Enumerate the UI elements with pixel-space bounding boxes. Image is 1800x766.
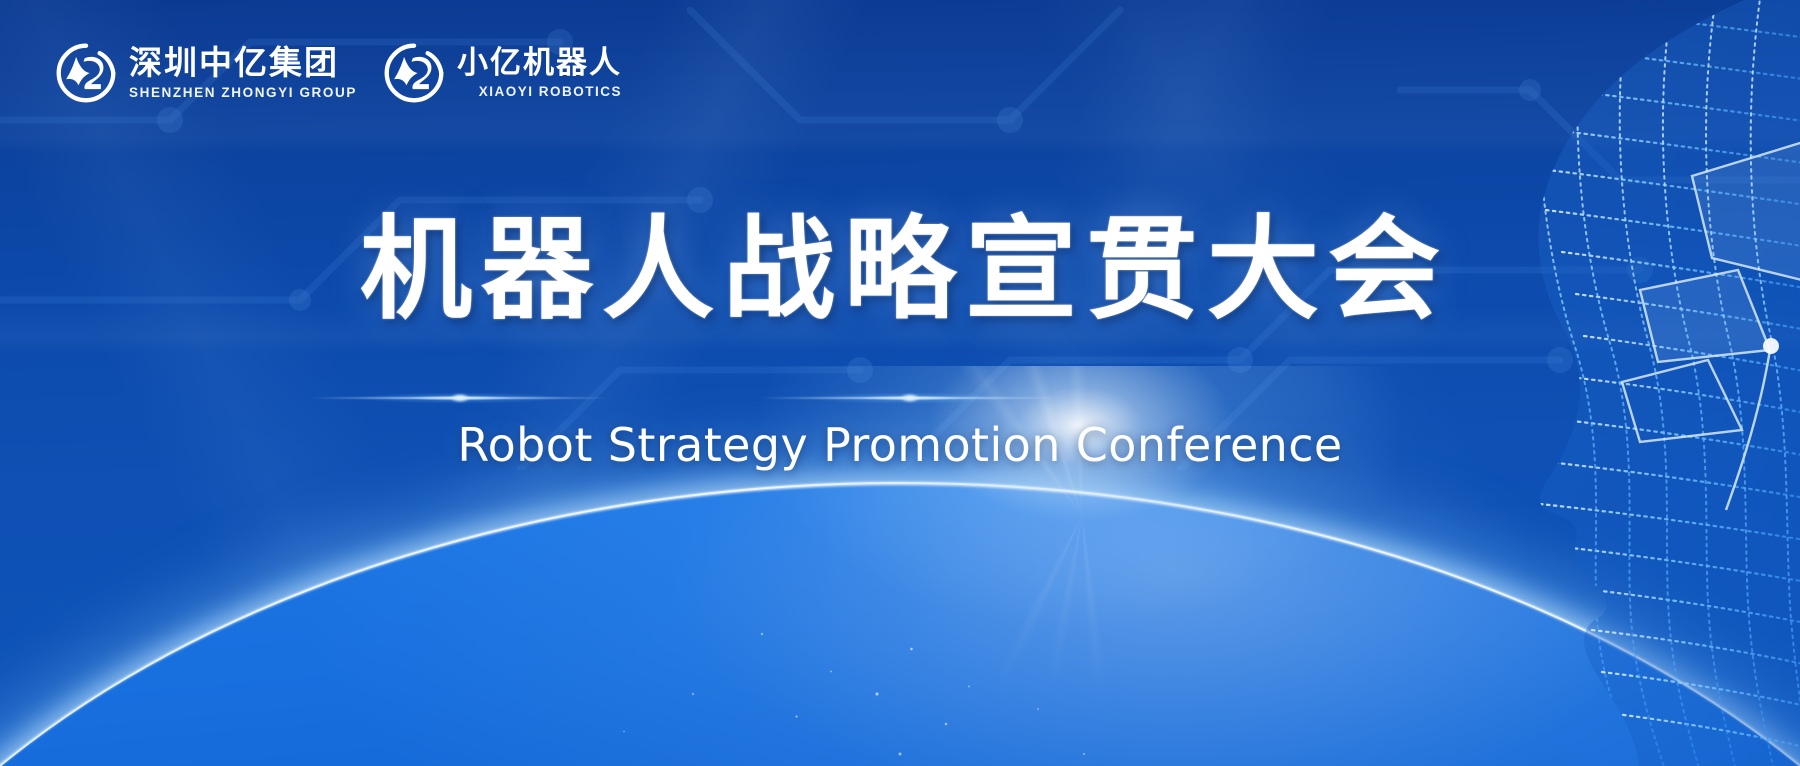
xiaoyi-emblem-icon [383, 42, 445, 104]
zhongyi-emblem-icon [55, 42, 117, 104]
logo-row: 深圳中亿集团 SHENZHEN ZHONGYI GROUP 小亿机器人 XIAO… [55, 42, 622, 104]
logo-xiaoyi[interactable]: 小亿机器人 XIAOYI ROBOTICS [383, 42, 622, 104]
background-gradient [0, 0, 1800, 766]
logo-xiaoyi-text: 小亿机器人 XIAOYI ROBOTICS [457, 47, 622, 99]
logo-zhongyi-name-en: SHENZHEN ZHONGYI GROUP [129, 86, 357, 100]
page-subtitle: Robot Strategy Promotion Conference [0, 418, 1800, 472]
logo-zhongyi-text: 深圳中亿集团 SHENZHEN ZHONGYI GROUP [129, 46, 357, 100]
page-title: 机器人战略宣贯大会 [0, 206, 1800, 335]
logo-xiaoyi-name-en: XIAOYI ROBOTICS [457, 85, 622, 99]
conference-banner: 深圳中亿集团 SHENZHEN ZHONGYI GROUP 小亿机器人 XIAO… [0, 0, 1800, 766]
logo-zhongyi[interactable]: 深圳中亿集团 SHENZHEN ZHONGYI GROUP [55, 42, 357, 104]
logo-zhongyi-name-cn: 深圳中亿集团 [129, 46, 357, 79]
logo-xiaoyi-name-cn: 小亿机器人 [457, 47, 622, 78]
